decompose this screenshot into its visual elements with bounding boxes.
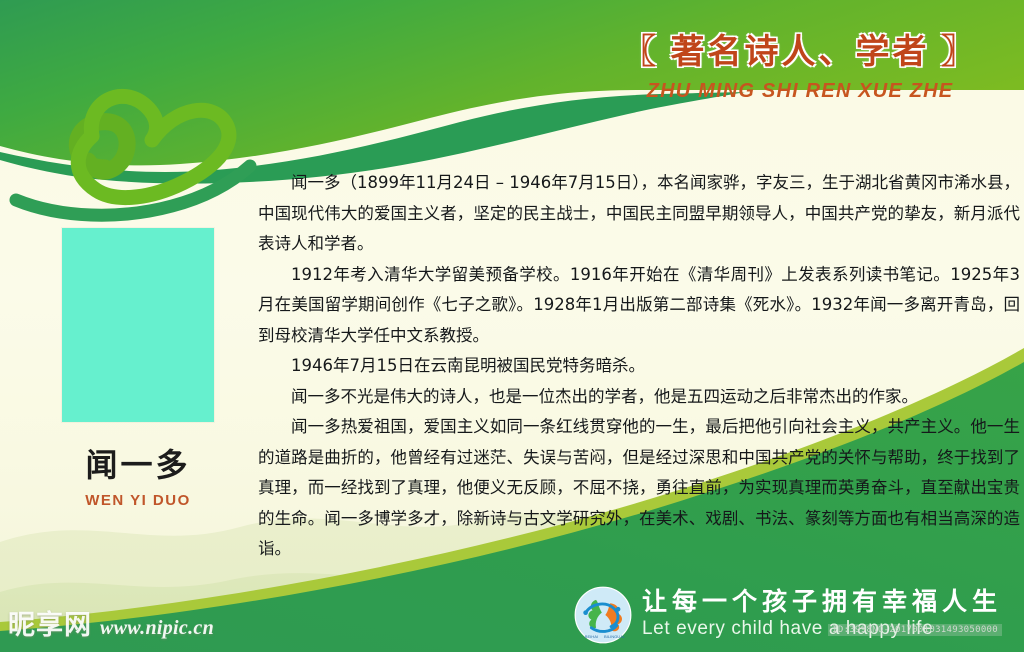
portrait-placeholder: [62, 228, 214, 422]
logo-text-left: BEIHAI: [585, 634, 598, 639]
subject-name-pinyin: WEN YI DUO: [62, 492, 214, 509]
site-watermark-chinese: 昵享网: [8, 603, 92, 642]
subject-name-chinese: 闻一多: [62, 440, 214, 486]
poster-canvas: 〖 著名诗人、学者 〗 ZHU MING SHI REN XUE ZHE 闻一多…: [0, 0, 1024, 652]
site-watermark-url: www.nipic.cn: [100, 617, 214, 642]
title-pinyin: ZHU MING SHI REN XUE ZHE: [622, 80, 978, 103]
paragraph: 1912年考入清华大学留美预备学校。1916年开始在《清华周刊》上发表系列读书笔…: [258, 260, 1020, 352]
slogan-chinese: 让每一个孩子拥有幸福人生: [642, 589, 1002, 618]
portrait-column: 闻一多 WEN YI DUO: [62, 228, 214, 509]
school-logo-icon: BEIHAI BILINGUAL: [574, 586, 632, 644]
paragraph: 1946年7月15日在云南昆明被国民党特务暗杀。: [258, 351, 1020, 382]
site-watermark: 昵享网 www.nipic.cn: [8, 603, 214, 642]
biography-text: 闻一多（1899年11月24日 – 1946年7月15日），本名闻家骅，字友三，…: [258, 168, 1020, 565]
poster-title: 〖 著名诗人、学者 〗 ZHU MING SHI REN XUE ZHE: [622, 34, 978, 103]
paragraph: 闻一多（1899年11月24日 – 1946年7月15日），本名闻家骅，字友三，…: [258, 168, 1020, 260]
watermark-id: ID:3998NO-2017001031493050000: [828, 624, 1002, 636]
title-chinese: 〖 著名诗人、学者 〗: [622, 34, 978, 71]
paragraph: 闻一多不光是伟大的诗人，也是一位杰出的学者，他是五四运动之后非常杰出的作家。: [258, 382, 1020, 413]
logo-text-right: BILINGUAL: [604, 634, 626, 639]
paragraph: 闻一多热爱祖国，爱国主义如同一条红线贯穿他的一生，最后把他引向社会主义，共产主义…: [258, 412, 1020, 565]
